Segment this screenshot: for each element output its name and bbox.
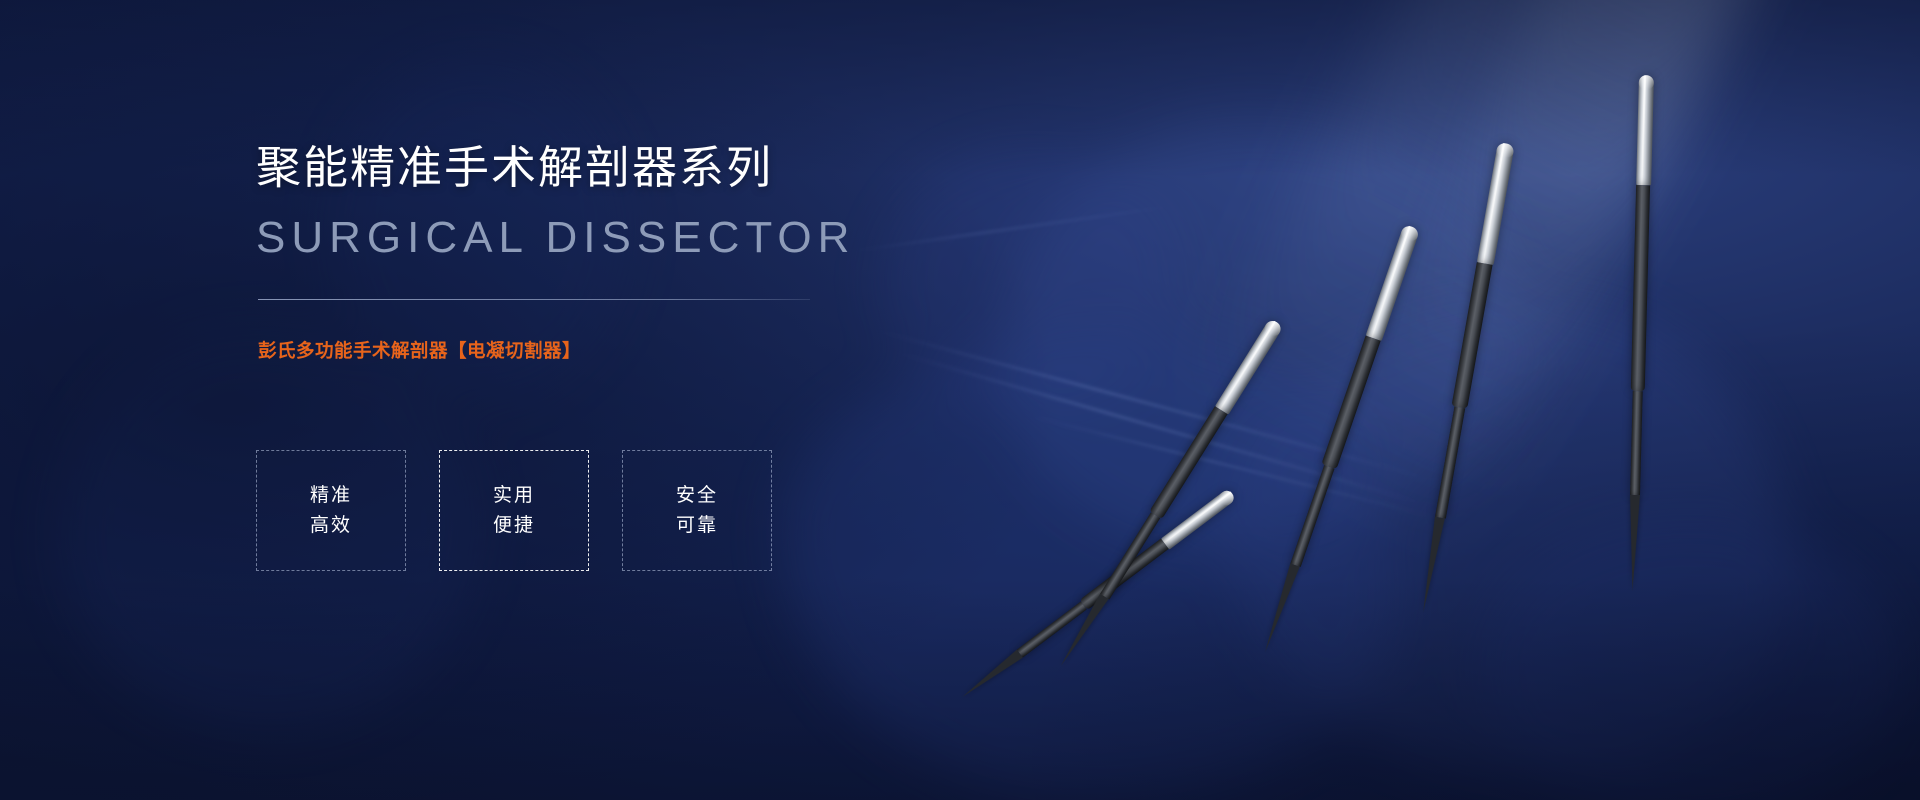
feature-badge-line2: 便捷 bbox=[493, 511, 535, 540]
product-hero-banner: 聚能精准手术解剖器系列 SURGICAL DISSECTOR 彭氏多功能手术解剖… bbox=[0, 0, 1920, 800]
feature-badge-safety[interactable]: 安全 可靠 bbox=[622, 450, 772, 571]
product-name-highlight: 彭氏多功能手术解剖器【电凝切割器】 bbox=[258, 337, 581, 363]
feature-badge-list: 精准 高效 实用 便捷 安全 可靠 bbox=[256, 450, 772, 571]
feature-badge-practical[interactable]: 实用 便捷 bbox=[439, 450, 589, 571]
hero-text-block: 聚能精准手术解剖器系列 SURGICAL DISSECTOR 彭氏多功能手术解剖… bbox=[256, 0, 976, 800]
feature-badge-line1: 实用 bbox=[493, 481, 535, 510]
page-title: 聚能精准手术解剖器系列 bbox=[256, 140, 773, 196]
page-subtitle-english: SURGICAL DISSECTOR bbox=[256, 213, 855, 263]
feature-badge-line2: 可靠 bbox=[676, 511, 718, 540]
feature-badge-precision[interactable]: 精准 高效 bbox=[256, 450, 406, 571]
feature-badge-line1: 安全 bbox=[676, 481, 718, 510]
feature-badge-line1: 精准 bbox=[310, 481, 352, 510]
divider bbox=[258, 299, 810, 300]
feature-badge-line2: 高效 bbox=[310, 511, 352, 540]
